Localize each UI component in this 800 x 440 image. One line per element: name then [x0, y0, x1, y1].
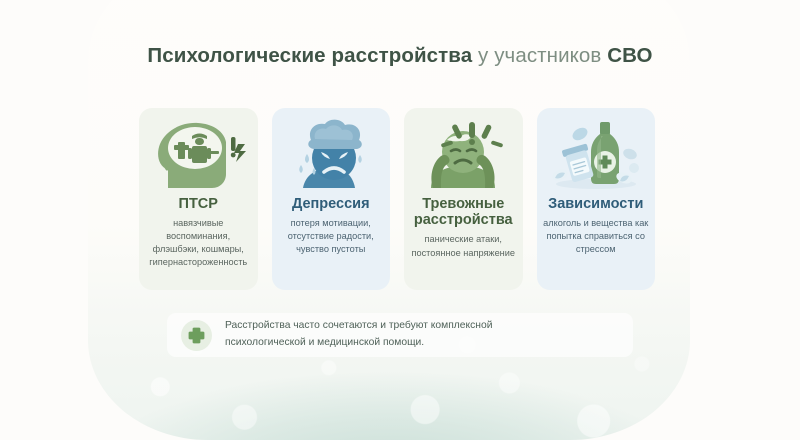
sad-face-rain-cloud-icon — [279, 116, 383, 194]
summary-banner: Расстройства часто сочетаются и требуют … — [167, 313, 633, 357]
summary-note-line1: Расстройства часто сочетаются и требуют … — [225, 318, 492, 335]
summary-note-line2: психологической и медицинской помощи. — [225, 335, 492, 352]
card-title: ПТСР — [175, 196, 222, 212]
card-ptsr[interactable]: ПТСР навязчивые воспоминания, флэшбэки, … — [139, 108, 258, 290]
page-title: Психологические расстройства у участнико… — [0, 44, 800, 68]
summary-note: Расстройства часто сочетаются и требуют … — [225, 318, 492, 351]
card-description: потеря мотивации, отсутствие радости, чу… — [272, 217, 391, 256]
infographic-canvas: Психологические расстройства у участнико… — [0, 0, 800, 400]
disorder-cards: ПТСР навязчивые воспоминания, флэшбэки, … — [139, 108, 655, 290]
head-with-soldier-thought-icon — [146, 116, 250, 194]
stressed-person-holding-head-icon — [411, 116, 515, 194]
card-zavisimosti[interactable]: Зависимости алкоголь и вещества как попы… — [537, 108, 656, 290]
card-trevozhnye-rasstroystva[interactable]: Тревожные расстройства панические атаки,… — [404, 108, 523, 290]
bottle-and-pills-icon — [544, 116, 648, 194]
medical-cross-icon — [181, 320, 212, 351]
page-title-light: у участников — [478, 44, 601, 67]
card-title: Депрессия — [288, 196, 374, 212]
card-title: Тревожные расстройства — [404, 196, 523, 228]
card-depressiya[interactable]: Депрессия потеря мотивации, отсутствие р… — [272, 108, 391, 290]
card-description: алкоголь и вещества как попытка справить… — [537, 217, 656, 256]
page-title-strong: Психологические расстройства — [147, 44, 472, 67]
card-description: навязчивые воспоминания, флэшбэки, кошма… — [139, 217, 258, 269]
card-description: панические атаки, постоянное напряжение — [404, 233, 523, 259]
page-title-accent: СВО — [607, 44, 652, 67]
card-title: Зависимости — [544, 196, 647, 212]
